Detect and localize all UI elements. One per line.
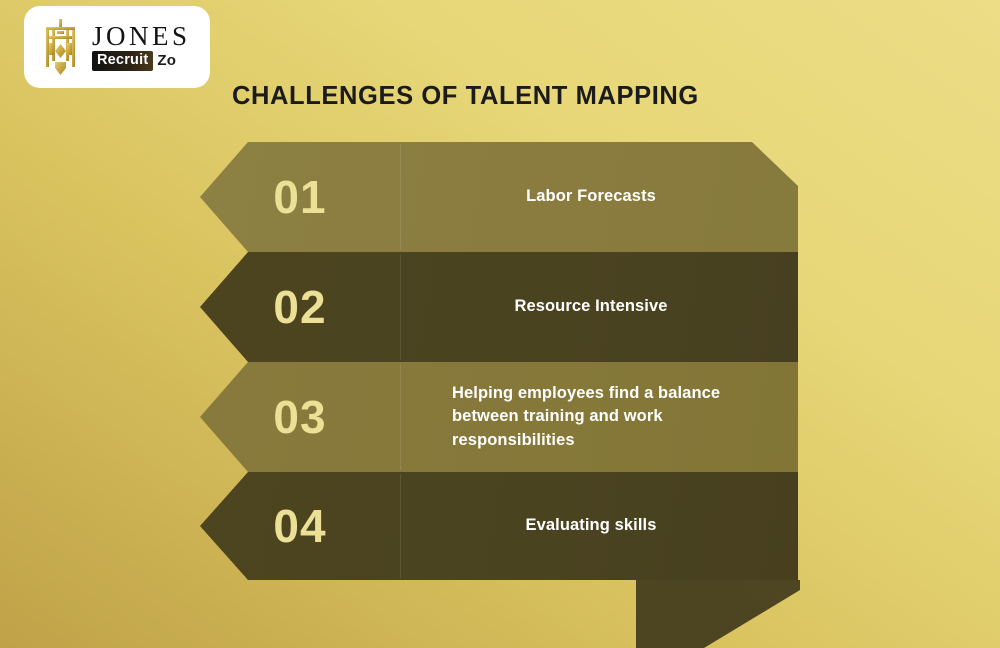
list-item[interactable]: 04 Evaluating skills <box>200 472 798 580</box>
item-number: 02 <box>273 284 326 330</box>
item-number-pad: 04 <box>200 472 400 580</box>
item-number: 03 <box>273 394 326 440</box>
brand-logo-card: JONES Recruit Zo <box>24 6 210 88</box>
item-number: 04 <box>273 503 326 549</box>
list-item[interactable]: 02 Resource Intensive <box>200 252 798 362</box>
crown-shield-icon <box>38 18 84 76</box>
item-label-pad: Labor Forecasts <box>400 142 798 252</box>
item-label-pad: Evaluating skills <box>400 472 798 580</box>
decorative-tail-shape <box>636 580 800 648</box>
brand-wordmark: JONES Recruit Zo <box>92 23 191 71</box>
page-title: CHALLENGES OF TALENT MAPPING <box>232 82 699 111</box>
item-label: Evaluating skills <box>525 514 656 537</box>
item-label: Labor Forecasts <box>526 185 656 208</box>
item-number-pad: 03 <box>200 362 400 472</box>
item-number: 01 <box>273 174 326 220</box>
item-label: Resource Intensive <box>514 295 667 318</box>
item-number-pad: 01 <box>200 142 400 252</box>
brand-name: JONES <box>92 23 191 50</box>
challenge-list: 01 Labor Forecasts 02 Resource Intensive… <box>200 142 800 580</box>
item-label-pad: Helping employees find a balance between… <box>400 362 798 472</box>
item-label-pad: Resource Intensive <box>400 252 798 362</box>
item-label: Helping employees find a balance between… <box>452 382 730 452</box>
list-item[interactable]: 03 Helping employees find a balance betw… <box>200 362 798 472</box>
brand-badge: Recruit <box>92 51 153 71</box>
list-item[interactable]: 01 Labor Forecasts <box>200 142 798 252</box>
brand-suffix: Zo <box>157 52 176 69</box>
item-number-pad: 02 <box>200 252 400 362</box>
